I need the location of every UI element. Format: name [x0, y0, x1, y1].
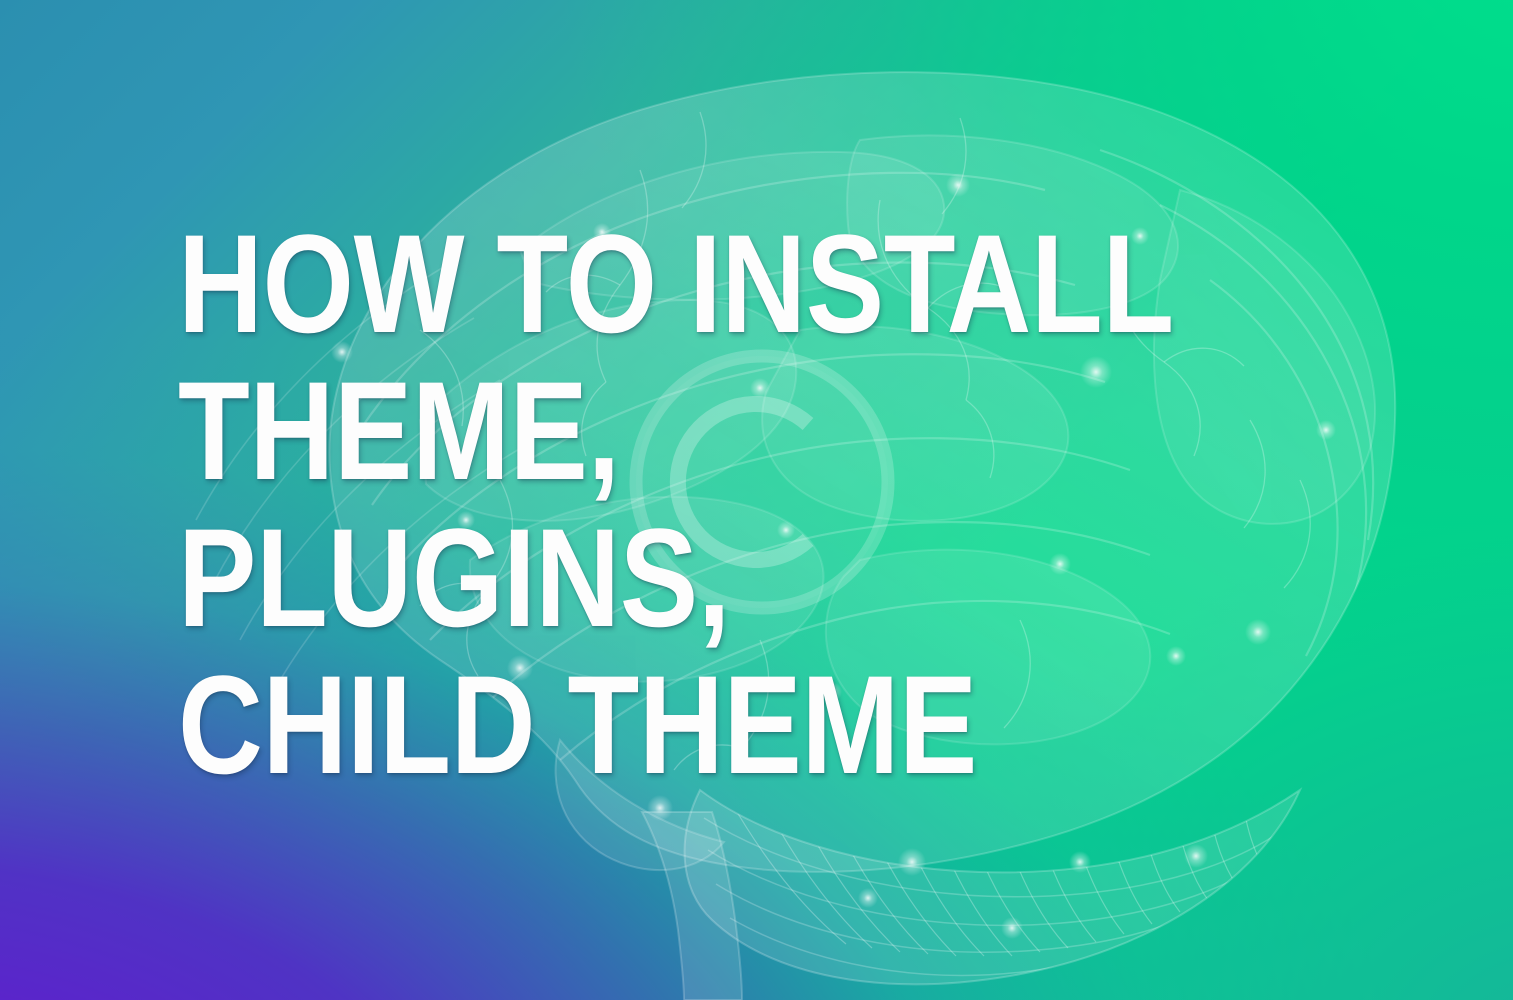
headline: HOW TO INSTALL THEME, PLUGINS, CHILD THE… [178, 210, 1438, 798]
headline-line-1: HOW TO INSTALL [178, 210, 1236, 357]
banner: HOW TO INSTALL THEME, PLUGINS, CHILD THE… [0, 0, 1513, 1000]
headline-line-4: CHILD THEME [178, 651, 1236, 798]
headline-line-2: THEME, [178, 357, 1236, 504]
headline-line-3: PLUGINS, [178, 504, 1236, 651]
